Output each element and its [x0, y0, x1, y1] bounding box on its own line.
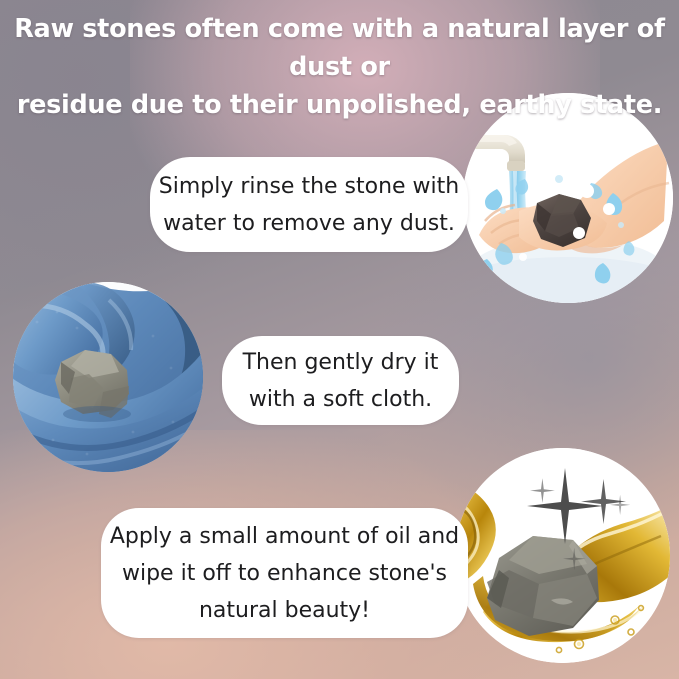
callout-dry-line-1: Then gently dry it	[222, 344, 459, 381]
callout-oil-line-1: Apply a small amount of oil and	[101, 518, 468, 555]
callout-oil-line-3: natural beauty!	[101, 592, 468, 629]
step-image-dry	[13, 282, 203, 472]
step-image-rinse	[463, 93, 673, 303]
callout-rinse: Simply rinse the stone with water to rem…	[150, 157, 468, 252]
hands-rinsing-stone-icon	[463, 93, 673, 303]
callout-oil-line-2: wipe it off to enhance stone's	[101, 555, 468, 592]
page-title: Raw stones often come with a natural lay…	[0, 10, 679, 124]
page-title-line-1: Raw stones often come with a natural lay…	[14, 14, 665, 82]
callout-rinse-line-1: Simply rinse the stone with	[150, 168, 468, 205]
callout-dry: Then gently dry it with a soft cloth.	[222, 336, 459, 425]
callout-dry-line-2: with a soft cloth.	[222, 381, 459, 418]
page-title-line-2: residue due to their unpolished, earthy …	[12, 86, 667, 124]
callout-oil: Apply a small amount of oil and wipe it …	[101, 508, 468, 638]
stone-on-blue-cloth-icon	[13, 282, 203, 472]
callout-rinse-line-2: water to remove any dust.	[150, 205, 468, 242]
stone-with-golden-oil-icon	[455, 448, 670, 663]
step-image-oil	[455, 448, 670, 663]
infographic-canvas: Raw stones often come with a natural lay…	[0, 0, 679, 679]
